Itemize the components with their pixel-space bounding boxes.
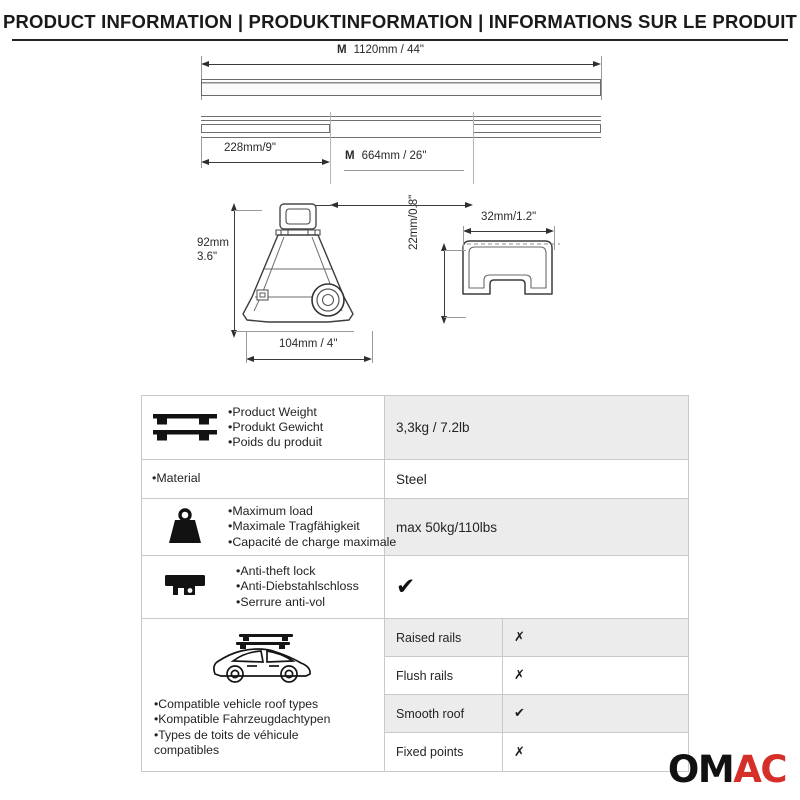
dimension-line-tower-width <box>250 359 368 360</box>
arrow-right-tower-width <box>364 356 372 362</box>
arrow-right-profile-width <box>546 228 554 234</box>
dimension-line-tower-height <box>234 210 235 330</box>
roof-types-label-cell: •Compatible vehicle roof types •Kompatib… <box>142 619 385 771</box>
header-divider <box>12 39 788 41</box>
list-item: Fixed points ✗ <box>385 733 688 771</box>
roof-label-fr: •Types de toits de véhicule <box>154 728 330 743</box>
extension-line-tower-right <box>372 331 373 363</box>
spec-label-cell: •Maximum load •Maximale Tragfähigkeit •C… <box>142 499 385 555</box>
roof-type-mark: ✗ <box>503 733 688 771</box>
arrow-left-tower-width <box>246 356 254 362</box>
dimension-tower-height-in: 3.6" <box>197 251 229 265</box>
logo-text-red: AC <box>733 748 786 791</box>
dimension-line-profile-width <box>467 231 550 232</box>
spec-label-text: •Maximum load •Maximale Tragfähigkeit •C… <box>228 504 396 549</box>
spec-label-text: •Product Weight •Produkt Gewicht •Poids … <box>228 405 323 450</box>
extension-line-tower-left <box>246 331 247 363</box>
spec-label-en: •Maximum load <box>228 504 396 519</box>
spec-label-text: •Anti-theft lock •Anti-Diebstahlschloss … <box>228 564 359 609</box>
arrow-left-profile-width <box>463 228 471 234</box>
arrow-left-foot-offset <box>201 159 209 165</box>
dimension-line-profile-height <box>444 250 445 316</box>
spec-value-material: Steel <box>385 460 688 498</box>
dimension-profile-height: 22mm/0.8" <box>408 195 420 250</box>
roof-type-name: Raised rails <box>385 619 503 656</box>
dimension-profile-width-value: 32mm/1.2" <box>481 211 536 223</box>
projection-line-right-foot <box>473 112 474 184</box>
dimension-line-bar-length <box>205 64 597 65</box>
tower-front-view-drawing <box>228 202 378 342</box>
dimension-bar-length: M1120mm / 44" <box>337 44 424 56</box>
dimension-tower-height-mm: 92mm <box>197 237 229 251</box>
spec-value-weight: 3,3kg / 7.2lb <box>385 396 688 459</box>
extension-line-profile-top <box>444 250 466 251</box>
dimension-tower-width-value: 104mm / 4" <box>279 338 337 350</box>
product-information-page: PRODUCT INFORMATION | PRODUKTINFORMATION… <box>0 0 800 800</box>
spec-label-en: •Product Weight <box>228 405 323 420</box>
spec-label-text: •Material <box>142 471 200 486</box>
specification-table: •Product Weight •Produkt Gewicht •Poids … <box>141 395 689 772</box>
roof-type-name: Flush rails <box>385 657 503 694</box>
car-with-roofrack-icon <box>203 630 323 691</box>
dimension-tower-width: 104mm / 4" <box>279 338 337 350</box>
extension-line-tower-top <box>234 210 262 211</box>
crossbar-side-view <box>201 116 601 138</box>
dimension-bar-length-prefix: M <box>337 44 347 56</box>
logo-text-dark: OM <box>668 748 733 791</box>
roof-type-mark: ✗ <box>503 619 688 656</box>
dimension-foot-offset-value: 228mm/9" <box>224 142 276 154</box>
projection-line-left-foot <box>330 112 331 184</box>
dimension-foot-spacing: M664mm / 26" <box>345 150 426 162</box>
roof-type-name: Fixed points <box>385 733 503 771</box>
technical-drawing: M1120mm / 44" 228mm/9" M664mm / 2 <box>0 42 800 392</box>
roof-type-mark: ✗ <box>503 657 688 694</box>
underline-foot-spacing <box>344 170 464 171</box>
checkmark-icon: ✔ <box>396 576 415 599</box>
dimension-profile-height-value: 22mm/0.8" <box>408 195 420 250</box>
arrow-right-bar-length <box>593 61 601 67</box>
roof-types-list: Raised rails ✗ Flush rails ✗ Smooth roof… <box>385 619 688 771</box>
extension-line-profile-bottom <box>444 317 466 318</box>
spec-label-fr: •Poids du produit <box>228 435 323 450</box>
spec-label-en: •Anti-theft lock <box>236 564 359 579</box>
extension-line-profile-left <box>463 226 464 250</box>
dimension-profile-width: 32mm/1.2" <box>481 211 536 223</box>
roof-type-name: Smooth roof <box>385 695 503 732</box>
extension-line-tower-bottom <box>234 331 354 332</box>
spec-label-fr: •Capacité de charge maximale <box>228 535 396 550</box>
spec-label-fr: •Serrure anti-vol <box>236 595 359 610</box>
spec-label-cell: •Product Weight •Produkt Gewicht •Poids … <box>142 396 385 459</box>
roof-type-mark: ✔ <box>503 695 688 732</box>
table-row: •Material Steel <box>142 460 688 499</box>
spec-label-cell: •Anti-theft lock •Anti-Diebstahlschloss … <box>142 556 385 618</box>
table-row: •Anti-theft lock •Anti-Diebstahlschloss … <box>142 556 688 619</box>
list-item: Raised rails ✗ <box>385 619 688 657</box>
table-row: •Product Weight •Produkt Gewicht •Poids … <box>142 396 688 460</box>
roof-label-de: •Kompatible Fahrzeugdachtypen <box>154 712 330 727</box>
omac-logo: OMAC <box>668 751 786 788</box>
weight-icon <box>142 506 228 548</box>
profile-cross-section-drawing <box>455 232 560 304</box>
page-title: PRODUCT INFORMATION | PRODUKTINFORMATION… <box>0 11 800 33</box>
crossbar-top-view <box>201 79 601 96</box>
spec-value-max-load: max 50kg/110lbs <box>385 499 688 555</box>
spec-value-anti-theft: ✔ <box>385 556 688 618</box>
roof-label-en: •Compatible vehicle roof types <box>154 697 330 712</box>
dimension-foot-spacing-value: 664mm / 26" <box>362 150 427 162</box>
spec-label-cell: •Material <box>142 460 385 498</box>
extension-line-offset-start <box>201 136 202 168</box>
lock-icon <box>142 569 228 605</box>
dimension-bar-length-value: 1120mm / 44" <box>354 44 424 56</box>
spec-label-material: •Material <box>152 471 200 486</box>
arrow-right-foot-offset <box>322 159 330 165</box>
table-row: •Maximum load •Maximale Tragfähigkeit •C… <box>142 499 688 556</box>
extension-line-right-bar <box>601 56 602 100</box>
rail-slot-right <box>473 124 601 133</box>
arrow-right-foot-spacing <box>465 202 473 208</box>
dimension-tower-height: 92mm 3.6" <box>197 237 229 264</box>
table-row-roof-types: •Compatible vehicle roof types •Kompatib… <box>142 619 688 771</box>
list-item: Smooth roof ✔ <box>385 695 688 733</box>
spec-label-de: •Anti-Diebstahlschloss <box>236 579 359 594</box>
roof-types-caption: •Compatible vehicle roof types •Kompatib… <box>146 697 330 758</box>
dimension-line-foot-offset <box>205 162 326 163</box>
spec-label-de: •Maximale Tragfähigkeit <box>228 519 396 534</box>
spec-label-de: •Produkt Gewicht <box>228 420 323 435</box>
rail-slot-left <box>201 124 330 133</box>
dimension-foot-spacing-prefix: M <box>345 150 355 162</box>
extension-line-profile-right <box>554 226 555 250</box>
arrow-left-bar-length <box>201 61 209 67</box>
crossbars-icon <box>142 408 228 448</box>
list-item: Flush rails ✗ <box>385 657 688 695</box>
roof-label-fr-cont: compatibles <box>154 743 330 758</box>
dimension-foot-offset: 228mm/9" <box>224 142 276 154</box>
